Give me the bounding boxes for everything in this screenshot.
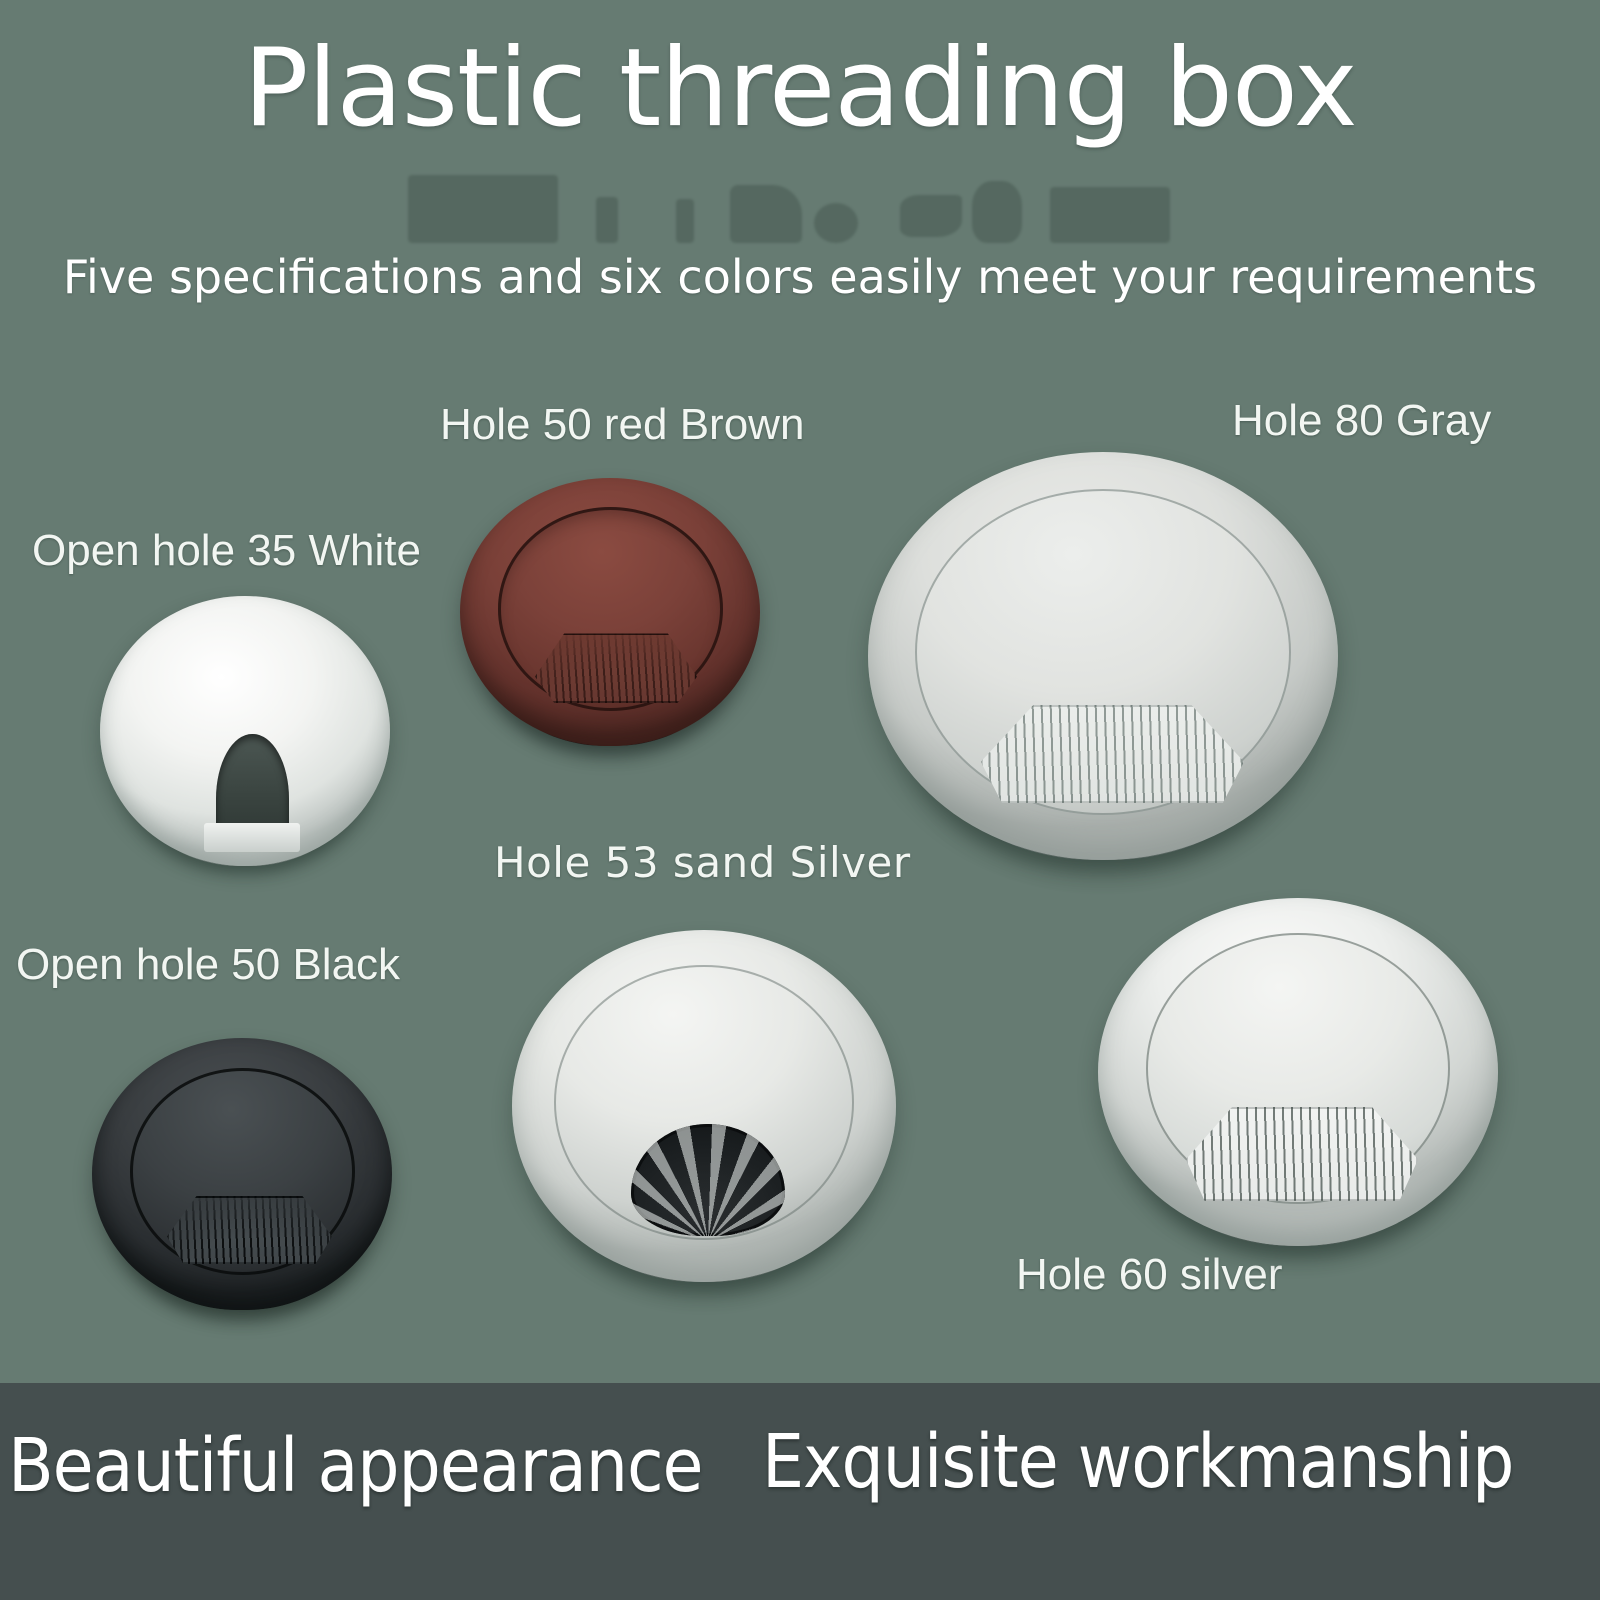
grommet-notch-lip (204, 823, 300, 853)
product-image-sand-53 (512, 930, 896, 1282)
slot-ribs (981, 705, 1244, 803)
grommet-cable-slot (981, 705, 1244, 803)
page-subtitle: Five specifications and six colors easil… (0, 250, 1600, 304)
caption-silver-60: Hole 60 silver (1016, 1250, 1283, 1300)
grommet-cable-slot (535, 633, 697, 703)
caption-gray-80: Hole 80 Gray (1232, 396, 1491, 446)
product-image-silver-60 (1098, 898, 1498, 1246)
caption-brown-50: Hole 50 red Brown (440, 400, 804, 450)
erased-text-artifact (400, 165, 1200, 245)
product-image-gray-80 (868, 452, 1338, 860)
bottom-banner: Beautiful appearance Exquisite workmansh… (0, 1383, 1600, 1600)
caption-white-35: Open hole 35 White (32, 526, 421, 576)
banner-text-left: Beautiful appearance (8, 1423, 703, 1509)
product-image-white-35 (100, 596, 390, 866)
caption-sand-53: Hole 53 sand Silver (494, 838, 911, 887)
poster-canvas: Plastic threading box Five specification… (0, 0, 1600, 1600)
slot-ribs (535, 633, 697, 703)
grommet-brush-insert (631, 1124, 785, 1237)
grommet-cable-slot (1186, 1107, 1418, 1201)
caption-black-50: Open hole 50 Black (16, 940, 400, 990)
grommet-cable-slot (167, 1196, 332, 1264)
product-image-black-50 (92, 1038, 392, 1310)
slot-ribs (167, 1196, 332, 1264)
page-title: Plastic threading box (0, 32, 1600, 145)
slot-ribs (1186, 1107, 1418, 1201)
product-image-brown-50 (460, 478, 760, 746)
banner-text-right: Exquisite workmanship (762, 1423, 1322, 1503)
